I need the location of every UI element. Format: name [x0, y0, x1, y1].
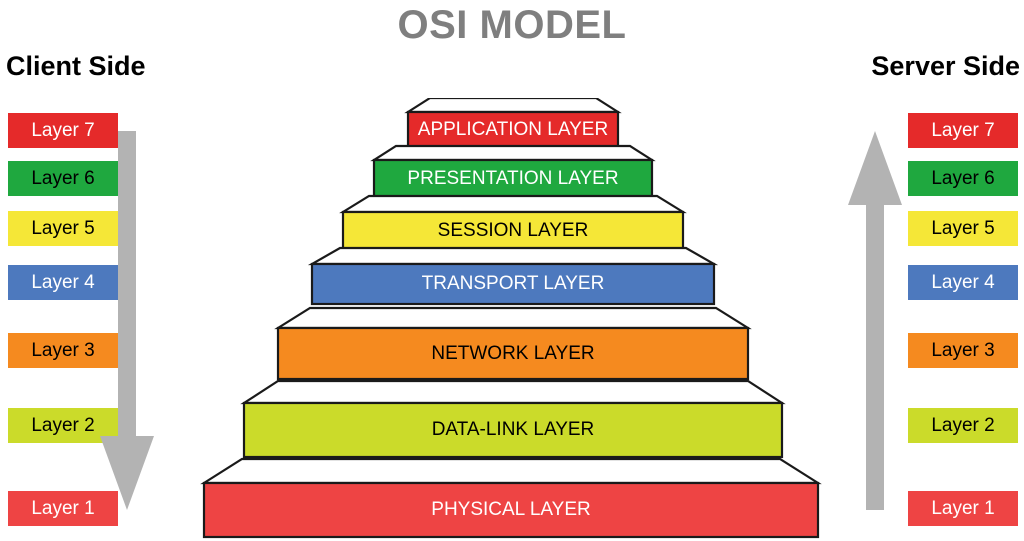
layer-badge-layer-7: Layer 7: [908, 113, 1018, 148]
pyramid-step-4-top-surface: [312, 248, 714, 264]
layer-badge-layer-6: Layer 6: [908, 161, 1018, 196]
pyramid-step-1: [204, 459, 818, 537]
pyramid-step-1-top-surface: [204, 459, 818, 483]
layer-badge-layer-3: Layer 3: [908, 333, 1018, 368]
server-layer-badge-list: Layer 7Layer 6Layer 5Layer 4Layer 3Layer…: [908, 0, 1024, 541]
pyramid-step-label-2: DATA-LINK LAYER: [244, 420, 782, 439]
layer-badge-layer-4: Layer 4: [908, 265, 1018, 300]
pyramid-step-3-top-surface: [278, 308, 748, 328]
arrow-down-icon: [97, 131, 157, 510]
pyramid-step-6-top-surface: [374, 146, 652, 160]
osi-layer-pyramid: APPLICATION LAYERPRESENTATION LAYERSESSI…: [178, 98, 848, 541]
pyramid-step-label-5: SESSION LAYER: [343, 221, 683, 240]
page-title: OSI MODEL: [0, 2, 1024, 48]
pyramid-step-2-top-surface: [244, 381, 782, 403]
pyramid-step-label-4: TRANSPORT LAYER: [312, 274, 714, 293]
arrow-up-icon: [845, 131, 905, 510]
pyramid-step-5-top-surface: [343, 196, 683, 212]
pyramid-svg: [178, 98, 848, 541]
pyramid-step-label-3: NETWORK LAYER: [278, 344, 748, 363]
arrow-down-icon-svg: [97, 131, 157, 510]
arrow-down-shape: [100, 131, 154, 510]
pyramid-step-7-top-surface: [408, 98, 618, 112]
layer-badge-layer-1: Layer 1: [908, 491, 1018, 526]
pyramid-step-label-6: PRESENTATION LAYER: [374, 169, 652, 188]
pyramid-step-label-1: PHYSICAL LAYER: [204, 500, 818, 519]
pyramid-step-label-7: APPLICATION LAYER: [408, 120, 618, 139]
layer-badge-layer-2: Layer 2: [908, 408, 1018, 443]
arrow-up-shape: [848, 131, 902, 510]
layer-badge-layer-5: Layer 5: [908, 211, 1018, 246]
arrow-up-icon-svg: [845, 131, 905, 510]
